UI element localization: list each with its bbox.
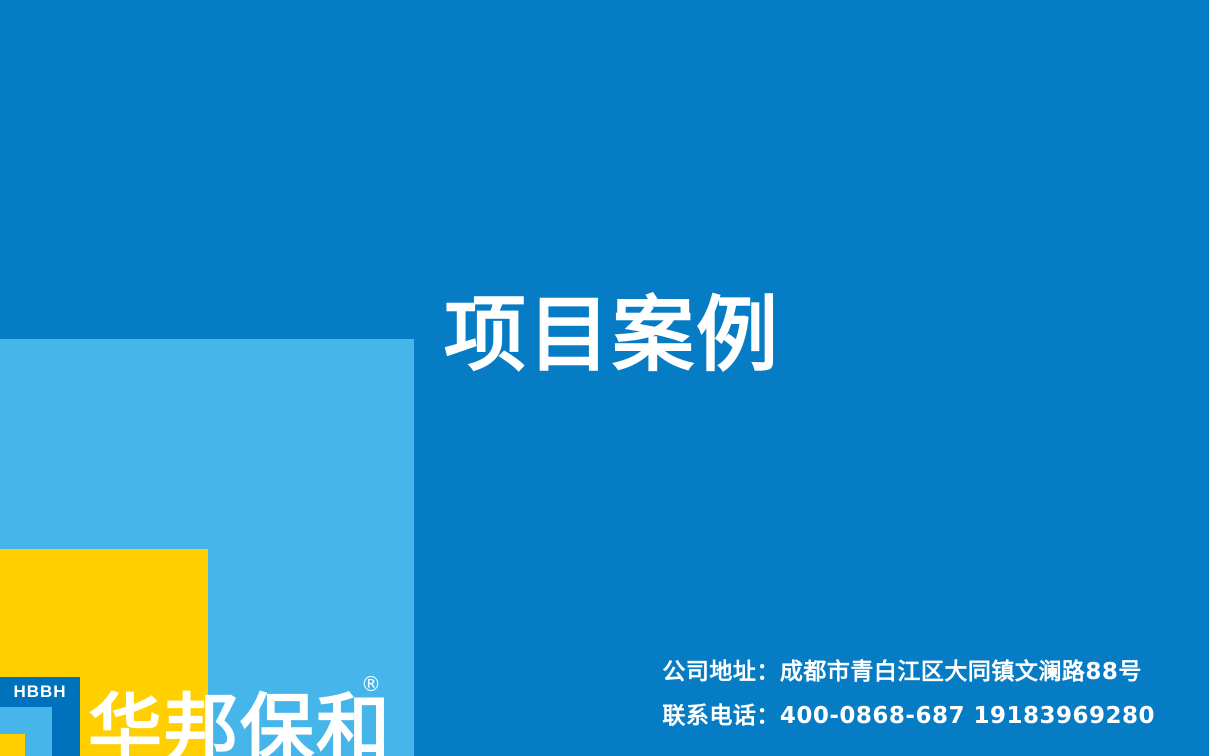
company-logo-wordmark: 华邦保和: [88, 692, 392, 756]
slide-title: 项目案例: [444, 288, 780, 384]
registered-trademark-icon: ®: [361, 674, 381, 694]
contact-information: 公司地址：成都市青白江区大同镇文澜路88号 联系电话：400-0868-687 …: [662, 650, 1155, 738]
company-phone-line: 联系电话：400-0868-687 19183969280: [662, 694, 1155, 738]
company-logo-mark: HBBH: [0, 677, 80, 756]
logo-mark-yellow-square: [0, 734, 25, 756]
presentation-slide: HBBH 华邦保和 ® 项目案例 公司地址：成都市青白江区大同镇文澜路88号 联…: [0, 0, 1209, 756]
logo-mark-abbreviation: HBBH: [0, 680, 80, 704]
company-address-line: 公司地址：成都市青白江区大同镇文澜路88号: [662, 650, 1155, 694]
